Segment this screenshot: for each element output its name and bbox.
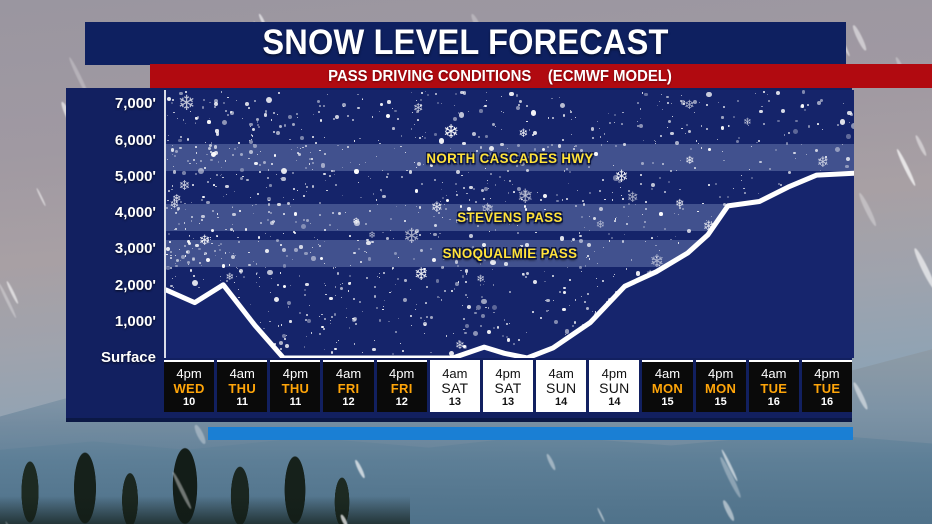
x-axis-cell-date: 13 xyxy=(502,396,514,409)
x-axis-cell-day: FRI xyxy=(391,381,413,396)
y-axis-tick-label: 6,000' xyxy=(64,133,156,149)
x-axis-cell-day: SUN xyxy=(599,381,629,396)
x-axis-time-cell[interactable]: 4pmSAT13 xyxy=(483,360,533,412)
x-axis-time-cell[interactable]: 4amMON15 xyxy=(642,360,692,412)
x-axis-cell-day: FRI xyxy=(338,381,360,396)
x-axis-time-cell[interactable]: 4amSAT13 xyxy=(430,360,480,412)
subtitle-bar: PASS DRIVING CONDITIONS (ECMWF MODEL) xyxy=(150,64,932,88)
x-axis-cell-day: WED xyxy=(173,381,204,396)
x-axis-cell-time: 4pm xyxy=(602,366,627,381)
x-axis-cell-date: 10 xyxy=(183,396,195,409)
x-axis-cell-day: THU xyxy=(282,381,310,396)
x-axis-cell-time: 4pm xyxy=(708,366,733,381)
x-axis-time-cell[interactable]: 4amFRI12 xyxy=(323,360,373,412)
x-axis-cell-date: 11 xyxy=(236,396,248,409)
elevation-band-label: SNOQUALMIE PASS xyxy=(183,245,837,261)
x-axis-cell-day: SUN xyxy=(546,381,576,396)
x-axis-time-cell[interactable]: 4pmSUN14 xyxy=(589,360,639,412)
x-axis-cell-day: TUE xyxy=(760,381,787,396)
x-axis-cell-date: 14 xyxy=(608,396,620,409)
x-axis-cell-date: 15 xyxy=(661,396,673,409)
x-axis-cell-time: 4pm xyxy=(495,366,520,381)
y-axis-tick-label: 3,000' xyxy=(64,241,156,257)
x-axis-cell-date: 13 xyxy=(449,396,461,409)
x-axis-time-cell[interactable]: 4amTHU11 xyxy=(217,360,267,412)
x-axis-cell-day: THU xyxy=(228,381,256,396)
x-axis-time-strip: 4pmWED104amTHU114pmTHU114amFRI124pmFRI12… xyxy=(164,360,852,412)
x-axis-cell-time: 4am xyxy=(761,366,786,381)
y-axis-tick-label: Surface xyxy=(64,350,156,366)
weather-graphic: SNOW LEVEL FORECAST PASS DRIVING CONDITI… xyxy=(0,0,932,524)
title-bar: SNOW LEVEL FORECAST xyxy=(85,22,846,65)
x-axis-cell-time: 4pm xyxy=(814,366,839,381)
y-axis-tick-label: 2,000' xyxy=(64,278,156,294)
x-axis-cell-date: 12 xyxy=(342,396,354,409)
x-axis-time-cell[interactable]: 4pmWED10 xyxy=(164,360,214,412)
page-title: SNOW LEVEL FORECAST xyxy=(112,21,820,65)
x-axis-cell-time: 4am xyxy=(549,366,574,381)
x-axis-cell-day: MON xyxy=(705,381,736,396)
x-axis-cell-date: 14 xyxy=(555,396,567,409)
x-axis-cell-time: 4am xyxy=(655,366,680,381)
x-axis-cell-time: 4am xyxy=(336,366,361,381)
y-axis-tick-label: 4,000' xyxy=(64,205,156,221)
x-axis-time-cell[interactable]: 4amTUE16 xyxy=(749,360,799,412)
chart-panel: 7,000'6,000'5,000'4,000'3,000'2,000'1,00… xyxy=(66,88,852,420)
x-axis-cell-day: TUE xyxy=(814,381,841,396)
y-axis: 7,000'6,000'5,000'4,000'3,000'2,000'1,00… xyxy=(66,88,164,368)
panel-bottom-edge xyxy=(66,418,852,422)
background-trees xyxy=(0,430,410,524)
x-axis-cell-day: MON xyxy=(652,381,683,396)
x-axis-cell-day: SAT xyxy=(494,381,521,396)
y-axis-tick-label: 5,000' xyxy=(64,169,156,185)
subtitle-text: PASS DRIVING CONDITIONS (ECMWF MODEL) xyxy=(175,64,826,88)
x-axis-cell-time: 4pm xyxy=(389,366,414,381)
x-axis-cell-date: 15 xyxy=(715,396,727,409)
x-axis-cell-day: SAT xyxy=(441,381,468,396)
x-axis-time-cell[interactable]: 4amSUN14 xyxy=(536,360,586,412)
plot-area: ❄❄❄❄❄❄❄❄❄❄❄❄❄❄❄❄❄❄❄❄❄❄❄❄❄❄❄❄❄❄❄❄❄❄ NORTH… xyxy=(164,90,854,358)
x-axis-cell-date: 16 xyxy=(768,396,780,409)
y-axis-tick-label: 1,000' xyxy=(64,314,156,330)
bottom-accent-bar xyxy=(208,427,853,440)
x-axis-cell-time: 4am xyxy=(442,366,467,381)
x-axis-cell-date: 11 xyxy=(290,396,302,409)
x-axis-time-cell[interactable]: 4pmTHU11 xyxy=(270,360,320,412)
x-axis-time-cell[interactable]: 4pmFRI12 xyxy=(377,360,427,412)
x-axis-cell-date: 16 xyxy=(821,396,833,409)
x-axis-cell-date: 12 xyxy=(396,396,408,409)
x-axis-cell-time: 4pm xyxy=(176,366,201,381)
y-axis-tick-label: 7,000' xyxy=(64,96,156,112)
x-axis-time-cell[interactable]: 4pmTUE16 xyxy=(802,360,852,412)
x-axis-time-cell[interactable]: 4pmMON15 xyxy=(696,360,746,412)
x-axis-cell-time: 4pm xyxy=(283,366,308,381)
x-axis-cell-time: 4am xyxy=(230,366,255,381)
elevation-band-label: NORTH CASCADES HWY xyxy=(183,150,837,166)
elevation-band-label: STEVENS PASS xyxy=(183,209,837,225)
